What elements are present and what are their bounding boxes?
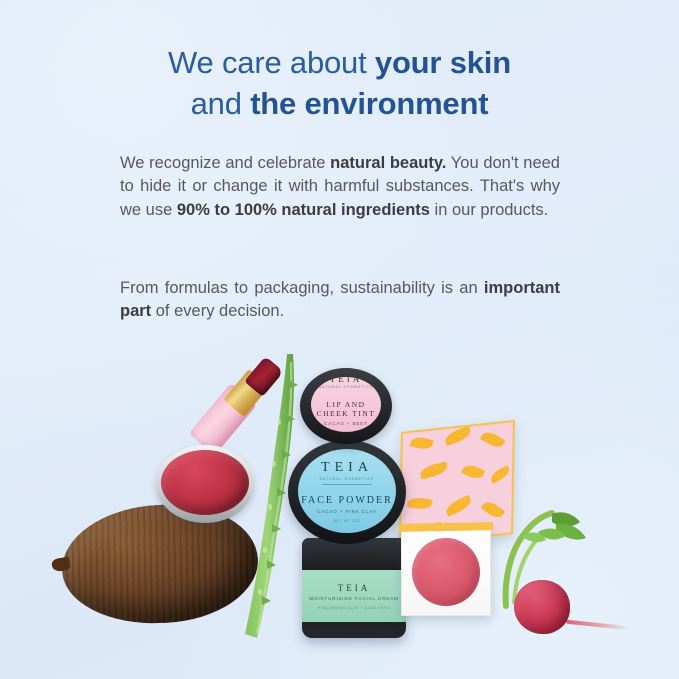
headline-line-1-regular: We care about	[168, 45, 375, 80]
product-subtitle-tint: CACAO + BEET	[324, 421, 368, 426]
headline-line-2-bold: the environment	[250, 86, 488, 121]
headline-line-1: We care about your skin	[0, 42, 679, 83]
net-weight-powder: NET WT 15G	[333, 519, 360, 523]
p1-part-c: in our products.	[430, 201, 548, 219]
product-name-cream: MOISTURIZING FACIAL CREAM	[309, 596, 398, 601]
promo-image: We care about your skin and the environm…	[0, 0, 679, 679]
lip-balm-product	[161, 450, 249, 515]
headline-line-1-bold: your skin	[375, 45, 511, 80]
product-subtitle-cream: HYALURONIC ACID + ALOE VERA	[318, 606, 391, 610]
product-photo: TEIA NATURAL COSMETICS LIP AND CHEEK TIN…	[0, 340, 679, 650]
brand-name-tint: TEIA	[330, 374, 363, 384]
headline-line-2-regular: and	[191, 86, 251, 121]
face-powder-jar: TEIA NATURAL COSMETICS FACE POWDER CACAO…	[288, 440, 406, 544]
compact-gold-strip	[399, 522, 493, 532]
paragraph-natural-beauty: We recognize and celebrate natural beaut…	[120, 152, 560, 222]
p2-part-a: From formulas to packaging, sustainabili…	[120, 279, 484, 297]
facial-cream-label: TEIA MOISTURIZING FACIAL CREAM HYALURONI…	[302, 570, 406, 622]
product-name-tint: LIP AND CHEEK TINT	[311, 400, 381, 418]
facial-cream-jar: TEIA MOISTURIZING FACIAL CREAM HYALURONI…	[302, 538, 406, 638]
brand-tagline-tint: NATURAL COSMETICS	[319, 385, 374, 389]
brand-name-cream: TEIA	[338, 583, 371, 593]
p1-bold-natural-beauty: natural beauty.	[330, 154, 446, 172]
lip-and-cheek-tint-tin: TEIA NATURAL COSMETICS LIP AND CHEEK TIN…	[300, 368, 392, 444]
lip-tint-label: TEIA NATURAL COSMETICS LIP AND CHEEK TIN…	[311, 377, 381, 432]
p2-part-c: of every decision.	[151, 302, 284, 320]
product-subtitle-powder: CACAO + PINK CLAY	[317, 509, 377, 514]
radish-root-tail	[566, 620, 630, 631]
label-divider-powder	[322, 484, 373, 485]
lip-balm-tin	[156, 445, 254, 523]
blush-compact	[401, 528, 491, 616]
cacao-pod	[59, 500, 261, 628]
product-name-powder: FACE POWDER	[301, 495, 393, 506]
net-weight-tint: NET WT 10G	[332, 431, 359, 435]
p1-bold-percentage: 90% to 100% natural ingredients	[177, 201, 430, 219]
radish-bulb	[514, 580, 570, 634]
headline-line-2: and the environment	[0, 83, 679, 124]
p1-part-a: We recognize and celebrate	[120, 154, 330, 172]
paragraph-sustainability: From formulas to packaging, sustainabili…	[120, 277, 560, 324]
blush-pan	[412, 538, 480, 606]
brand-name-powder: TEIA	[321, 460, 373, 476]
face-powder-label: TEIA NATURAL COSMETICS FACE POWDER CACAO…	[298, 449, 396, 533]
brand-tagline-powder: NATURAL COSMETICS	[320, 477, 375, 481]
page-title: We care about your skin and the environm…	[0, 42, 679, 124]
